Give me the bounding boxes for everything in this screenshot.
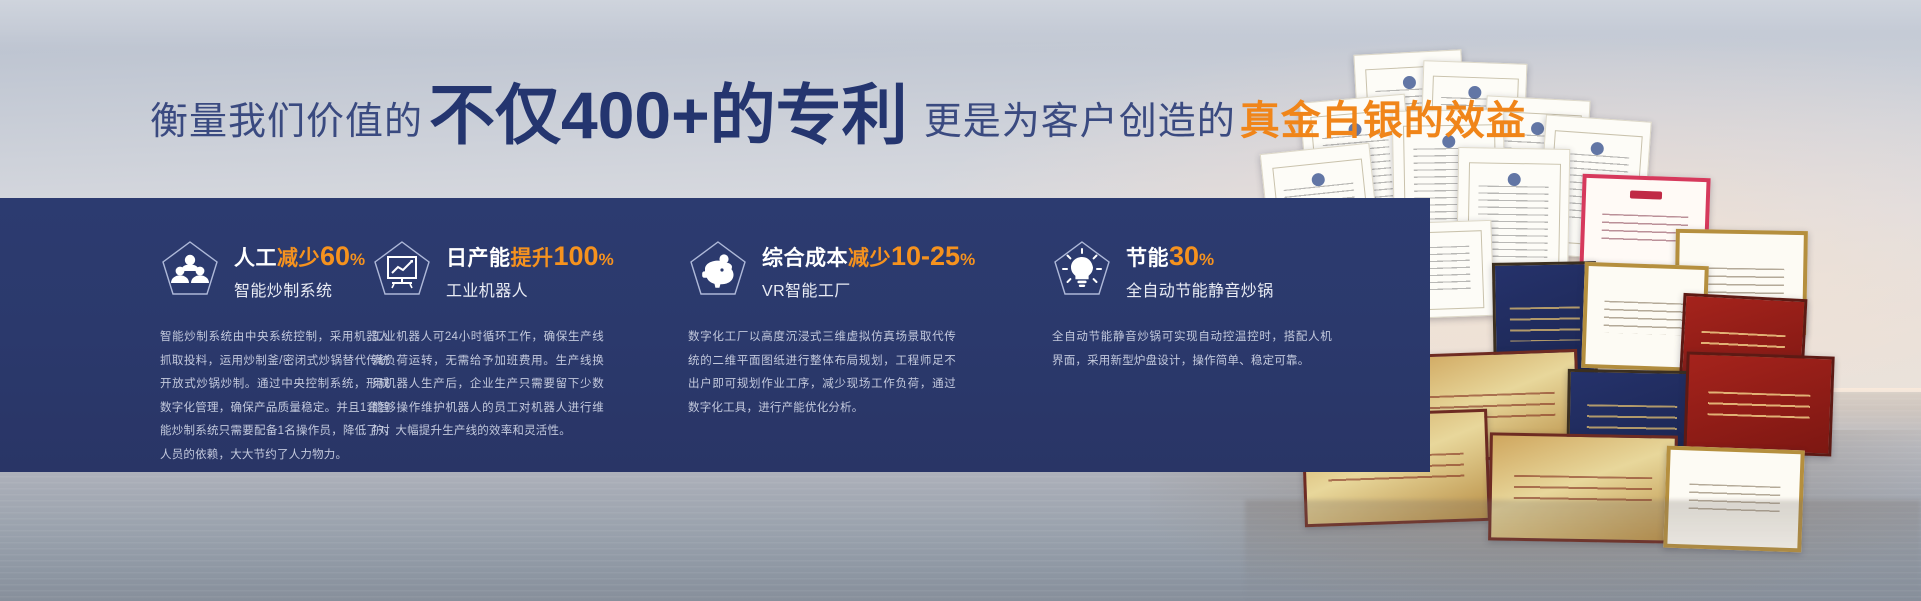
feature-header: 节能30% 全自动节能静音炒锅 (1052, 238, 1386, 304)
feature-header: 综合成本减少10-25% VR智能工厂 (688, 238, 1006, 304)
headline-middle: 更是为客户创造的 (924, 90, 1236, 145)
feature-title-unit: % (599, 250, 615, 269)
feature-title-prefix: 日产能 (446, 247, 511, 270)
feature-title-number: 100 (554, 241, 599, 271)
feature-header: 日产能提升100% 工业机器人 (372, 238, 634, 304)
feature-title-word: 减少 (848, 247, 891, 270)
feature-panel: 人工减少60% 智能炒制系统 智能炒制系统由中央系统控制，采用机器人抓取投料，运… (0, 198, 1430, 472)
feature-title-word: 减少 (277, 247, 320, 270)
feature-block-4: 节能30% 全自动节能静音炒锅 全自动节能静音炒锅可实现自动控温控时，搭配人机界… (1032, 198, 1412, 472)
certificate-pile-reflection (1245, 500, 1921, 601)
feature-body: 数字化工厂以高度沉浸式三维虚拟仿真场景取代传统的二维平面图纸进行整体布局规划，工… (688, 326, 956, 420)
feature-text: 综合成本减少10-25% VR智能工厂 (762, 241, 976, 301)
award-plaque-red (1683, 351, 1834, 456)
feature-block-1: 人工减少60% 智能炒制系统 智能炒制系统由中央系统控制，采用机器人抓取投料，运… (0, 198, 340, 472)
feature-subtitle: 全自动节能静音炒锅 (1126, 277, 1274, 301)
headline: 衡量我们价值的 不仅400+的专利 更是为客户创造的 真金白银的效益 (150, 78, 1527, 146)
banner-stage: 衡量我们价值的 不仅400+的专利 更是为客户创造的 真金白银的效益 (0, 0, 1921, 601)
feature-title-unit: % (960, 250, 976, 269)
feature-title: 节能30% (1126, 241, 1274, 272)
piggy-bank-icon (688, 240, 748, 302)
feature-title-number: 10-25 (891, 241, 960, 271)
feature-title-prefix: 综合成本 (762, 247, 848, 270)
feature-header: 人工减少60% 智能炒制系统 (160, 238, 314, 304)
headline-emphasis: 不仅400+的专利 (429, 82, 908, 148)
feature-title-number: 30 (1169, 241, 1199, 271)
feature-block-2: 日产能提升100% 工业机器人 工业机器人可24小时循环工作，确保生产线满负荷运… (340, 198, 660, 472)
headline-lead: 衡量我们价值的 (150, 90, 423, 145)
chart-board-icon (372, 240, 432, 302)
feature-block-3: 综合成本减少10-25% VR智能工厂 数字化工厂以高度沉浸式三维虚拟仿真场景取… (660, 198, 1032, 472)
feature-title: 综合成本减少10-25% (762, 241, 976, 272)
people-group-icon (160, 240, 220, 302)
feature-text: 节能30% 全自动节能静音炒锅 (1126, 241, 1274, 301)
feature-text: 日产能提升100% 工业机器人 (446, 241, 614, 301)
feature-row: 人工减少60% 智能炒制系统 智能炒制系统由中央系统控制，采用机器人抓取投料，运… (0, 198, 1430, 472)
feature-body: 全自动节能静音炒锅可实现自动控温控时，搭配人机界面，采用新型炉盘设计，操作简单、… (1052, 326, 1332, 373)
feature-title-prefix: 人工 (234, 247, 277, 270)
feature-title-unit: % (1199, 250, 1215, 269)
lightbulb-icon (1052, 240, 1112, 302)
feature-body: 工业机器人可24小时循环工作，确保生产线满负荷运转，无需给予加班费用。生产线换用… (372, 326, 604, 444)
feature-title-prefix: 节能 (1126, 247, 1169, 270)
background-top-sheen (0, 0, 1921, 52)
feature-title-word: 提升 (511, 247, 554, 270)
headline-accent: 真金白银的效益 (1240, 88, 1527, 146)
feature-subtitle: VR智能工厂 (762, 277, 976, 301)
feature-subtitle: 工业机器人 (446, 277, 614, 301)
feature-title: 日产能提升100% (446, 241, 614, 272)
